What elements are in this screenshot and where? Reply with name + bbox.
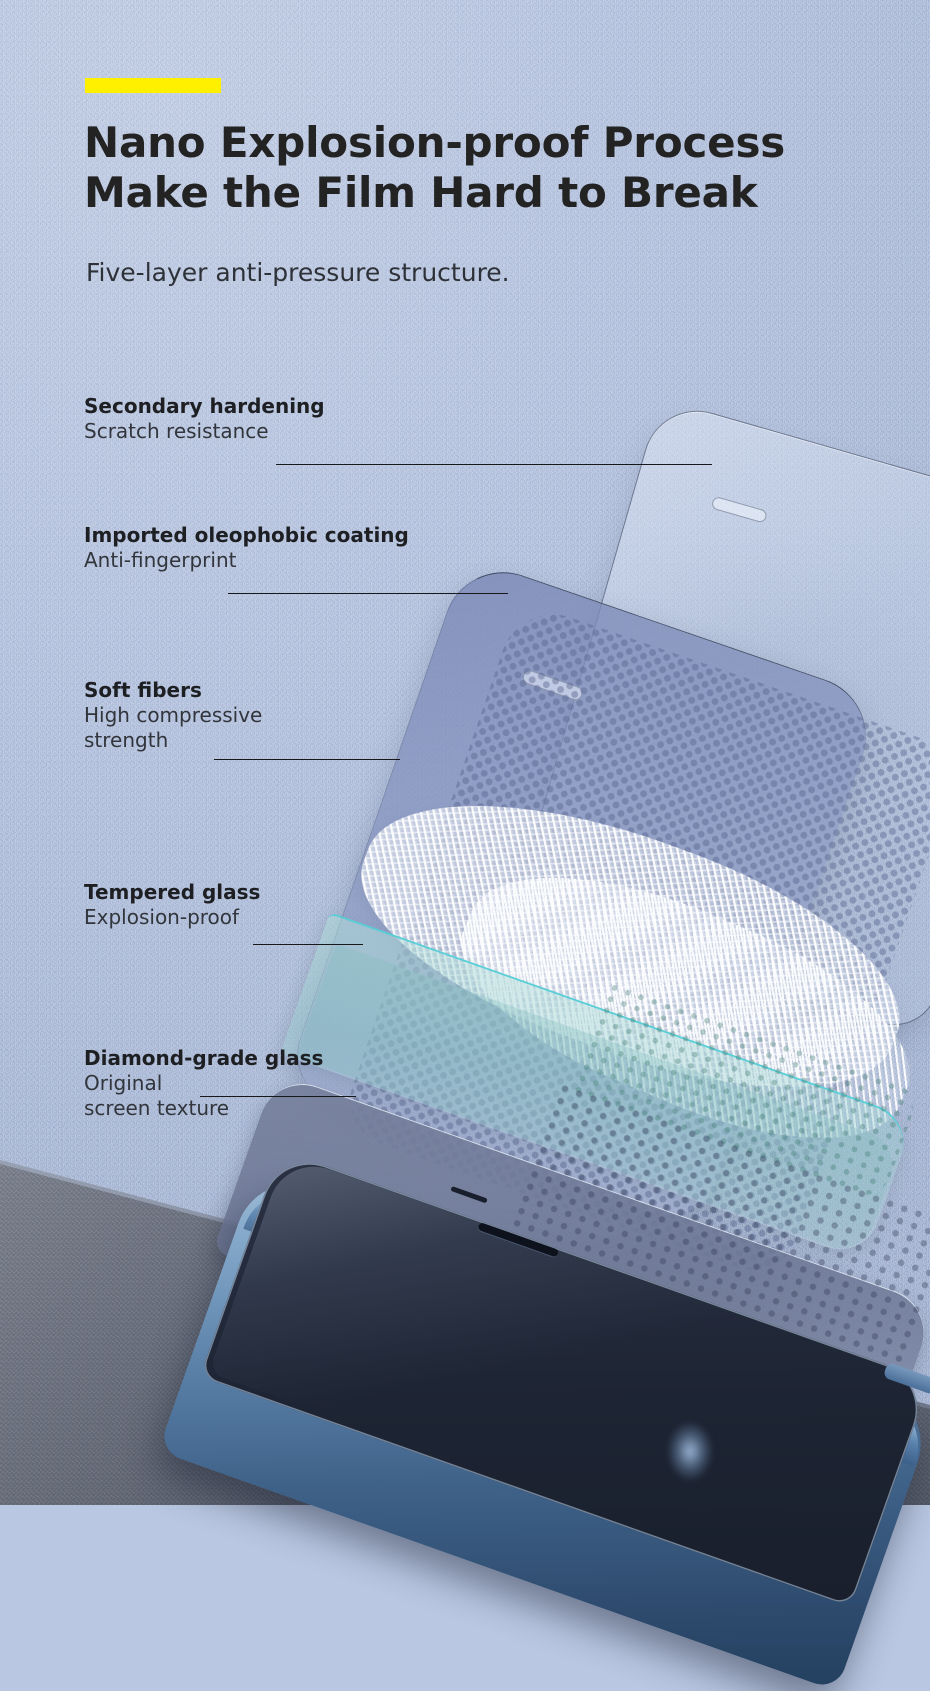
page-title: Nano Explosion-proof Process Make the Fi… bbox=[84, 118, 844, 217]
feature-label-oleophobic-coating: Imported oleophobic coating Anti-fingerp… bbox=[84, 523, 409, 573]
feature-label-tempered-glass: Tempered glass Explosion-proof bbox=[84, 880, 260, 930]
speaker-cutout-icon bbox=[711, 496, 768, 524]
feature-desc-line1: High compressive bbox=[84, 703, 262, 728]
feature-desc-line2: screen texture bbox=[84, 1096, 323, 1121]
accent-bar bbox=[85, 78, 221, 93]
feature-title: Secondary hardening bbox=[84, 394, 325, 419]
feature-label-soft-fibers: Soft fibers High compressive strength bbox=[84, 678, 262, 753]
leader-line-secondary-hardening bbox=[276, 464, 712, 465]
feature-title: Soft fibers bbox=[84, 678, 262, 703]
desk-light-glint bbox=[660, 1420, 720, 1498]
page-subtitle: Five-layer anti-pressure structure. bbox=[86, 258, 806, 287]
feature-desc: Anti-fingerprint bbox=[84, 548, 409, 573]
feature-title: Tempered glass bbox=[84, 880, 260, 905]
feature-label-secondary-hardening: Secondary hardening Scratch resistance bbox=[84, 394, 325, 444]
feature-desc-line1: Original bbox=[84, 1071, 323, 1096]
feature-desc: Explosion-proof bbox=[84, 905, 260, 930]
leader-line-diamond-grade-glass bbox=[200, 1096, 356, 1097]
feature-title: Diamond-grade glass bbox=[84, 1046, 323, 1071]
leader-line-tempered-glass bbox=[253, 944, 363, 945]
feature-label-diamond-grade-glass: Diamond-grade glass Original screen text… bbox=[84, 1046, 323, 1121]
title-line-1: Nano Explosion-proof Process bbox=[84, 118, 844, 168]
leader-line-soft-fibers bbox=[214, 759, 400, 760]
feature-desc: Scratch resistance bbox=[84, 419, 325, 444]
feature-desc-line2: strength bbox=[84, 728, 262, 753]
leader-line-oleophobic-coating bbox=[228, 593, 508, 594]
feature-title: Imported oleophobic coating bbox=[84, 523, 409, 548]
title-line-2: Make the Film Hard to Break bbox=[84, 168, 844, 218]
